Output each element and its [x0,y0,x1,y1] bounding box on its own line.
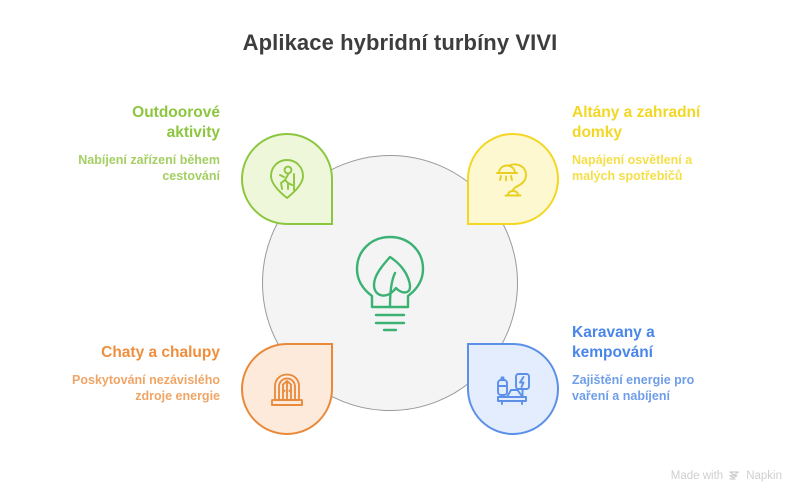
made-with-label: Made with [671,470,723,482]
node-shape-outdoor[interactable] [241,133,333,225]
node-text-cottage: Chaty a chalupy Poskytování nezávislého … [20,343,220,405]
node-shape-gazebo[interactable] [467,133,559,225]
node-shape-cottage[interactable] [241,343,333,435]
node-heading-caravan: Karavany a kempování [572,323,782,363]
node-text-outdoor: Outdoorové aktivity Nabíjení zařízení bě… [20,103,220,185]
node-description-caravan: Zajištění energie pro vaření a nabíjení [572,372,782,405]
ev-charging-car-icon [490,366,536,412]
lightbulb-leaf-icon [348,231,432,335]
map-pin-hiker-icon [264,156,310,202]
node-description-cottage: Poskytování nezávislého zdroje energie [20,372,220,405]
infographic-canvas: Aplikace hybridní turbíny VIVI [0,0,800,500]
made-with-napkin-footer[interactable]: Made with Napkin [671,469,782,482]
cottage-door-icon [264,366,310,412]
page-title: Aplikace hybridní turbíny VIVI [0,30,800,56]
node-text-caravan: Karavany a kempování Zajištění energie p… [572,323,782,405]
desk-lamp-icon [490,156,536,202]
node-description-gazebo: Napájení osvětlení a malých spotřebičů [572,152,782,185]
napkin-logo-icon [728,469,741,482]
node-heading-gazebo: Altány a zahradní domky [572,103,782,143]
node-heading-outdoor: Outdoorové aktivity [20,103,220,143]
napkin-brand-label: Napkin [746,470,782,482]
node-text-gazebo: Altány a zahradní domky Napájení osvětle… [572,103,782,185]
node-shape-caravan[interactable] [467,343,559,435]
node-heading-cottage: Chaty a chalupy [20,343,220,363]
node-description-outdoor: Nabíjení zařízení během cestování [20,152,220,185]
